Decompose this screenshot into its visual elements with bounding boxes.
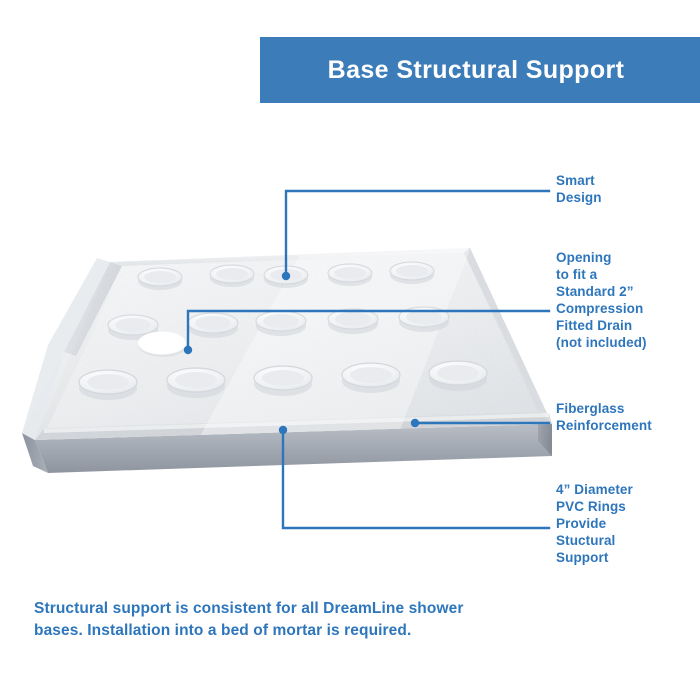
callout-label-smart-design: Smart Design: [556, 172, 602, 206]
base-wall-back-left: [64, 262, 122, 356]
pvc-ring: [328, 309, 378, 334]
base-surface-texture: [47, 254, 538, 428]
callout-label-drain-opening: Opening to fit a Standard 2” Compression…: [556, 249, 647, 351]
base-left-edge: [22, 433, 48, 473]
leader-dot-pvc-rings: [279, 426, 287, 434]
base-wall-left: [22, 258, 110, 440]
pvc-ring: [264, 266, 308, 288]
leader-line-pvc-rings: [283, 430, 549, 528]
base-floor-shading: [47, 254, 538, 428]
pvc-ring: [429, 361, 487, 391]
pvc-ring: [167, 368, 225, 398]
leader-dot-drain-opening: [184, 346, 192, 354]
drain-opening-hole: [138, 332, 188, 358]
pvc-ring: [188, 313, 238, 338]
leader-dot-smart-design: [282, 272, 290, 280]
base-front-rim: [35, 413, 552, 440]
pvc-ring: [210, 265, 254, 287]
pvc-ring: [108, 315, 158, 340]
illustration-canvas: Base Structural Support Smart Design Ope…: [0, 0, 700, 700]
pvc-ring: [342, 363, 400, 393]
pvc-ring: [256, 311, 306, 336]
base-right-edge: [538, 410, 552, 456]
base-wall-right: [464, 248, 552, 424]
base-wall-back-left-top: [110, 248, 470, 266]
pvc-ring: [399, 307, 449, 332]
pvc-ring: [390, 262, 434, 284]
pvc-ring: [328, 264, 372, 286]
header-banner: Base Structural Support: [260, 37, 700, 103]
bottom-caption: Structural support is consistent for all…: [34, 598, 504, 641]
base-front-edge: [35, 424, 552, 473]
page-title: Base Structural Support: [328, 56, 633, 85]
base-front-lip-highlight: [44, 413, 549, 433]
base-floor-sheen: [200, 250, 470, 436]
leader-dot-fiberglass: [411, 419, 419, 427]
base-top-face: [22, 248, 552, 440]
pvc-ring: [254, 366, 312, 396]
pvc-ring: [138, 268, 182, 290]
leader-line-smart-design: [286, 191, 549, 276]
callout-label-fiberglass-reinforcement: Fiberglass Reinforcement: [556, 400, 652, 434]
pvc-ring: [79, 370, 137, 400]
leader-line-drain-opening: [188, 311, 549, 350]
base-inner-floor: [47, 254, 538, 428]
pvc-ring-group: [79, 262, 487, 400]
callout-label-pvc-rings: 4” Diameter PVC Rings Provide Stuctural …: [556, 481, 633, 566]
